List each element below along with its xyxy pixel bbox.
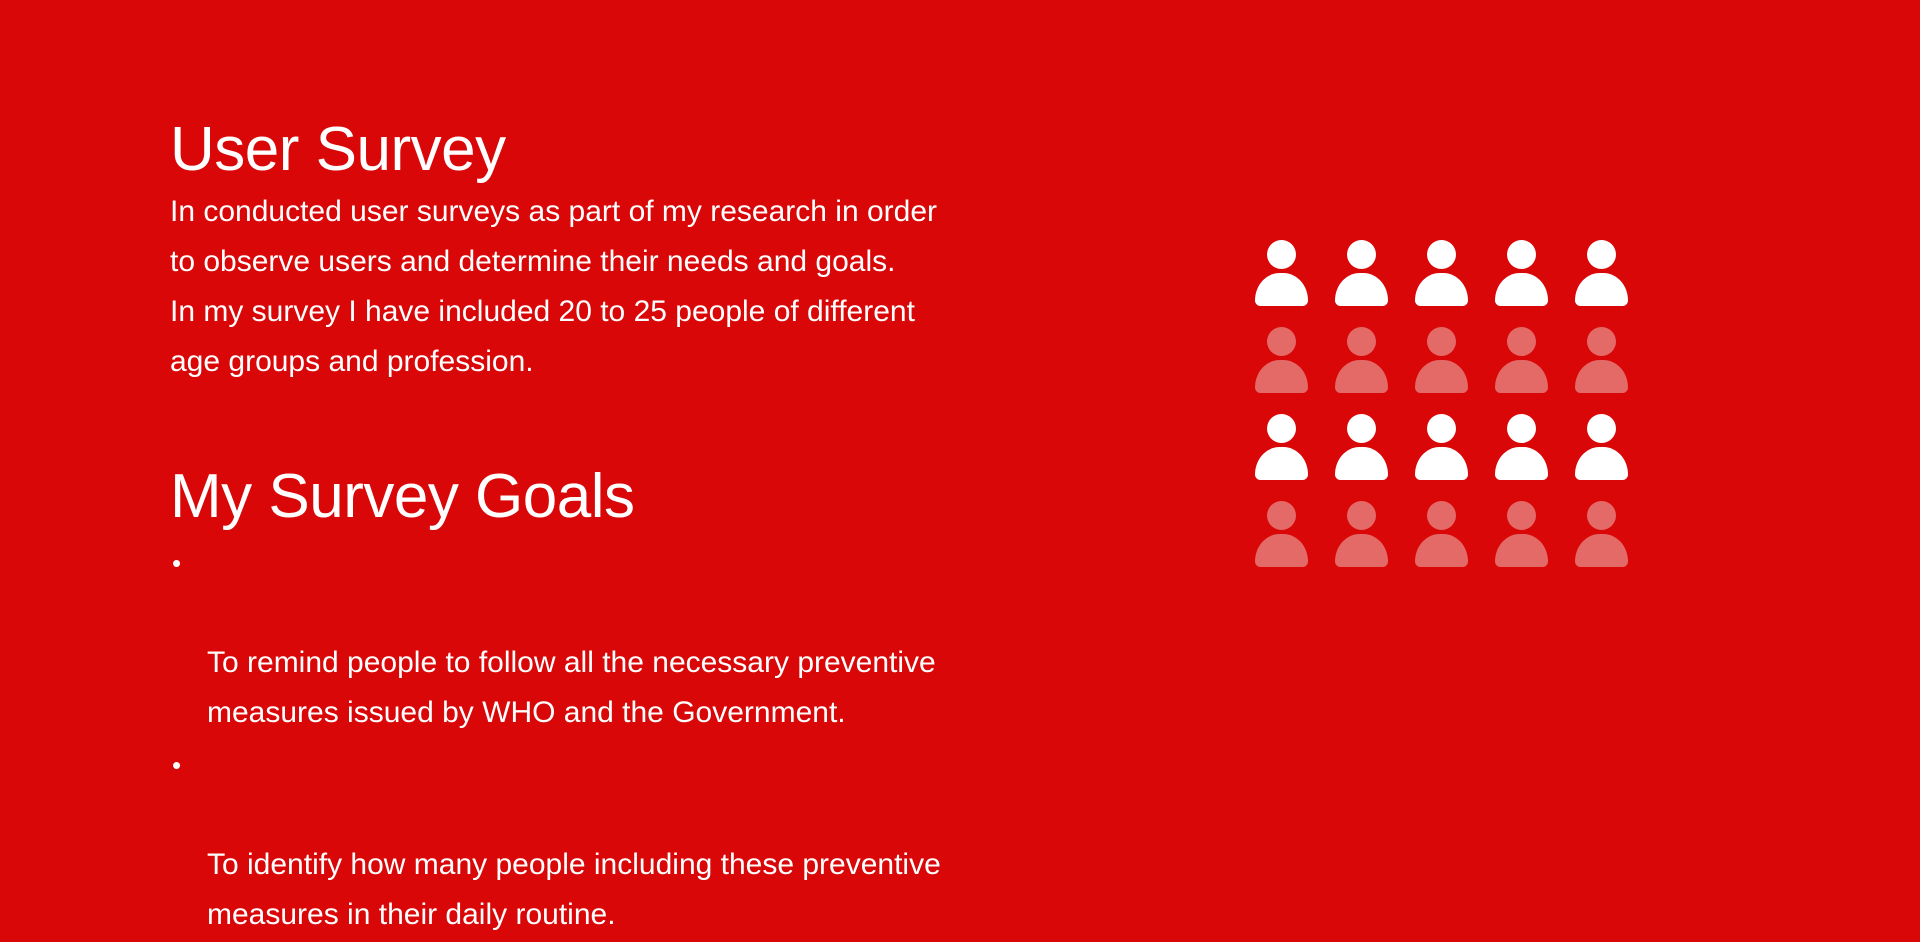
people-icon-grid	[1255, 240, 1655, 588]
person-body	[1335, 447, 1388, 480]
person-head	[1587, 414, 1616, 443]
person-body	[1255, 534, 1308, 567]
person-body	[1495, 534, 1548, 567]
goals-title: My Survey Goals	[170, 465, 1090, 528]
person-icon	[1415, 240, 1467, 306]
person-head	[1507, 501, 1536, 530]
person-body	[1415, 534, 1468, 567]
person-head	[1507, 327, 1536, 356]
person-body	[1495, 447, 1548, 480]
bullet-icon: •	[172, 538, 188, 588]
person-head	[1507, 240, 1536, 269]
person-icon	[1335, 414, 1387, 480]
person-body	[1255, 447, 1308, 480]
page-title: User Survey	[170, 118, 1090, 181]
person-body	[1575, 534, 1628, 567]
person-body	[1335, 273, 1388, 306]
text-column: User Survey In conducted user surveys as…	[170, 118, 1090, 942]
person-head	[1347, 414, 1376, 443]
person-icon	[1495, 501, 1547, 567]
person-head	[1347, 501, 1376, 530]
person-icon	[1415, 327, 1467, 393]
person-head	[1267, 240, 1296, 269]
person-icon	[1575, 414, 1627, 480]
person-head	[1347, 240, 1376, 269]
person-head	[1427, 501, 1456, 530]
person-icon	[1575, 240, 1627, 306]
goals-list: • To remind people to follow all the nec…	[170, 538, 1090, 940]
list-item: • To identify how many people including …	[170, 740, 1087, 940]
person-head	[1587, 240, 1616, 269]
person-head	[1267, 414, 1296, 443]
person-body	[1255, 360, 1308, 393]
person-head	[1427, 414, 1456, 443]
person-head	[1267, 327, 1296, 356]
person-icon	[1255, 501, 1307, 567]
person-body	[1335, 360, 1388, 393]
person-icon	[1255, 414, 1307, 480]
goal-item-text: To identify how many people including th…	[207, 848, 941, 931]
person-icon	[1495, 327, 1547, 393]
person-body	[1335, 534, 1388, 567]
person-body	[1415, 360, 1468, 393]
person-body	[1575, 273, 1628, 306]
person-icon	[1335, 501, 1387, 567]
person-body	[1415, 273, 1468, 306]
person-head	[1507, 414, 1536, 443]
person-body	[1575, 360, 1628, 393]
person-head	[1587, 327, 1616, 356]
person-body	[1255, 273, 1308, 306]
person-icon	[1255, 240, 1307, 306]
person-icon	[1335, 240, 1387, 306]
survey-description-paragraph: In conducted user surveys as part of my …	[170, 187, 1090, 387]
bullet-icon: •	[172, 740, 188, 790]
person-body	[1575, 447, 1628, 480]
person-icon	[1495, 414, 1547, 480]
person-head	[1267, 501, 1296, 530]
person-icon	[1415, 501, 1467, 567]
person-body	[1495, 273, 1548, 306]
person-head	[1427, 240, 1456, 269]
person-icon	[1575, 501, 1627, 567]
goal-item-text: To remind people to follow all the neces…	[207, 646, 936, 729]
list-item: • To remind people to follow all the nec…	[170, 538, 1087, 738]
person-body	[1415, 447, 1468, 480]
person-body	[1495, 360, 1548, 393]
survey-slide: User Survey In conducted user surveys as…	[0, 0, 1920, 864]
person-head	[1427, 327, 1456, 356]
person-icon	[1575, 327, 1627, 393]
person-icon	[1335, 327, 1387, 393]
person-head	[1587, 501, 1616, 530]
person-icon	[1255, 327, 1307, 393]
person-icon	[1415, 414, 1467, 480]
goals-block: My Survey Goals • To remind people to fo…	[170, 465, 1090, 940]
person-icon	[1495, 240, 1547, 306]
person-head	[1347, 327, 1376, 356]
